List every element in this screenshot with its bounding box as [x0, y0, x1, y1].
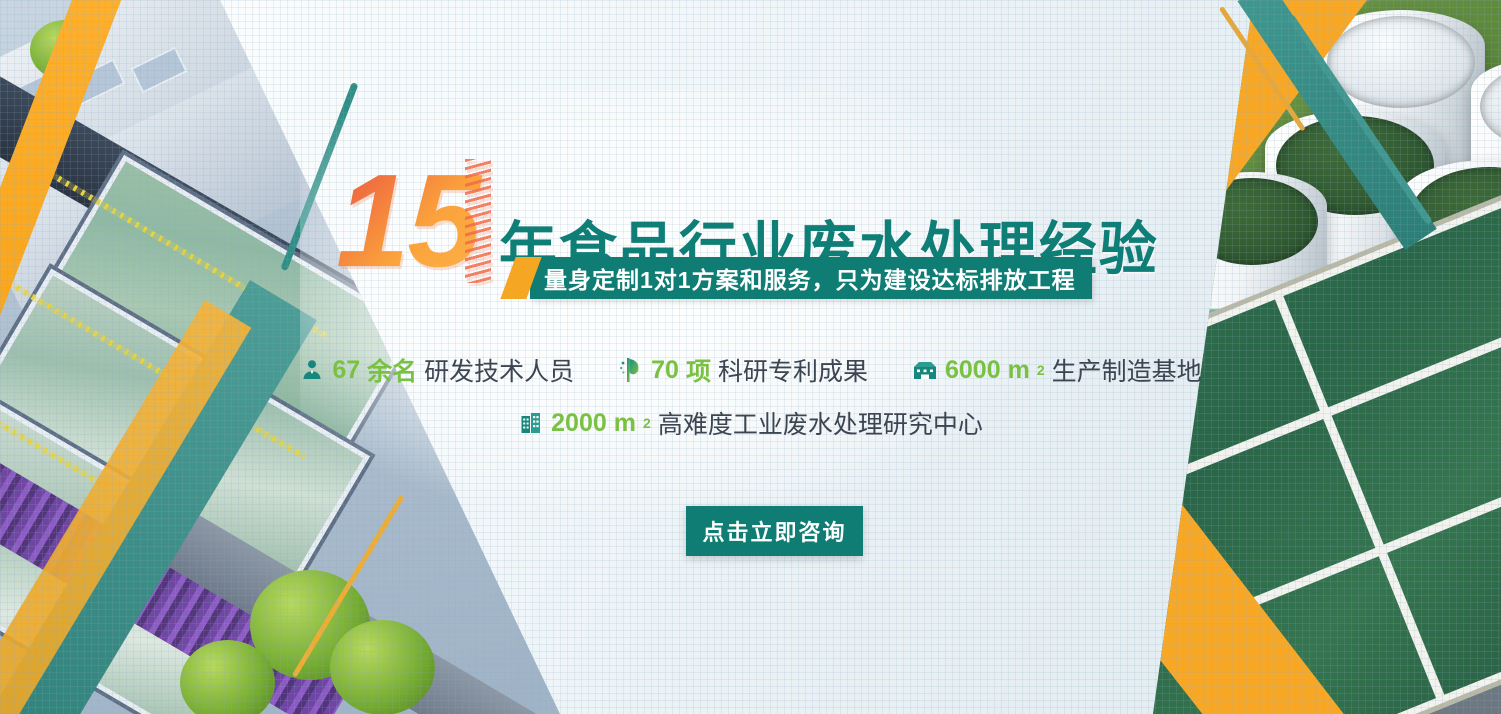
- feature-text: 研发技术人员: [424, 352, 574, 388]
- consult-now-button[interactable]: 点击立即咨询: [686, 506, 863, 556]
- years-number: 15: [336, 155, 495, 287]
- feature-unit: m: [614, 409, 636, 438]
- feature-number: 6000: [945, 356, 1001, 385]
- subtitle-bar: 量身定制1对1方案和服务，只为建设达标排放工程: [508, 257, 1092, 299]
- feature-unit-superscript: 2: [643, 415, 651, 431]
- feature-item-patents: 70 项 科研专利成果: [618, 352, 868, 388]
- feature-text: 生产制造基地: [1052, 352, 1202, 388]
- hero-banner: 15 年食品行业废水处理经验 量身定制1对1方案和服务，只为建设达标排放工程: [0, 0, 1501, 714]
- feature-list: 67 余名 研发技术人员: [0, 352, 1501, 441]
- person-icon: [299, 357, 325, 383]
- feature-unit: 余名: [367, 352, 417, 388]
- feature-text: 科研专利成果: [718, 352, 868, 388]
- factory-icon: [912, 357, 938, 383]
- feature-item-staff: 67 余名 研发技术人员: [299, 352, 574, 388]
- banner-content: 15 年食品行业废水处理经验 量身定制1对1方案和服务，只为建设达标排放工程: [0, 0, 1501, 714]
- feature-number: 67: [332, 356, 360, 385]
- feature-unit-superscript: 2: [1037, 362, 1045, 378]
- feature-unit: m: [1008, 356, 1030, 385]
- feature-number: 70: [651, 356, 679, 385]
- feature-row-1: 67 余名 研发技术人员: [0, 352, 1501, 388]
- patent-leaf-icon: [618, 357, 644, 383]
- feature-item-factory: 6000 m 2 生产制造基地: [912, 352, 1202, 388]
- feature-unit: 项: [686, 352, 711, 388]
- feature-number: 2000: [551, 409, 607, 438]
- office-building-icon: [518, 410, 544, 436]
- subtitle-text: 量身定制1对1方案和服务，只为建设达标排放工程: [530, 257, 1092, 299]
- feature-item-research-center: 2000 m 2 高难度工业废水处理研究中心: [518, 405, 983, 441]
- feature-row-2: 2000 m 2 高难度工业废水处理研究中心: [0, 405, 1501, 441]
- feature-text: 高难度工业废水处理研究中心: [658, 405, 983, 441]
